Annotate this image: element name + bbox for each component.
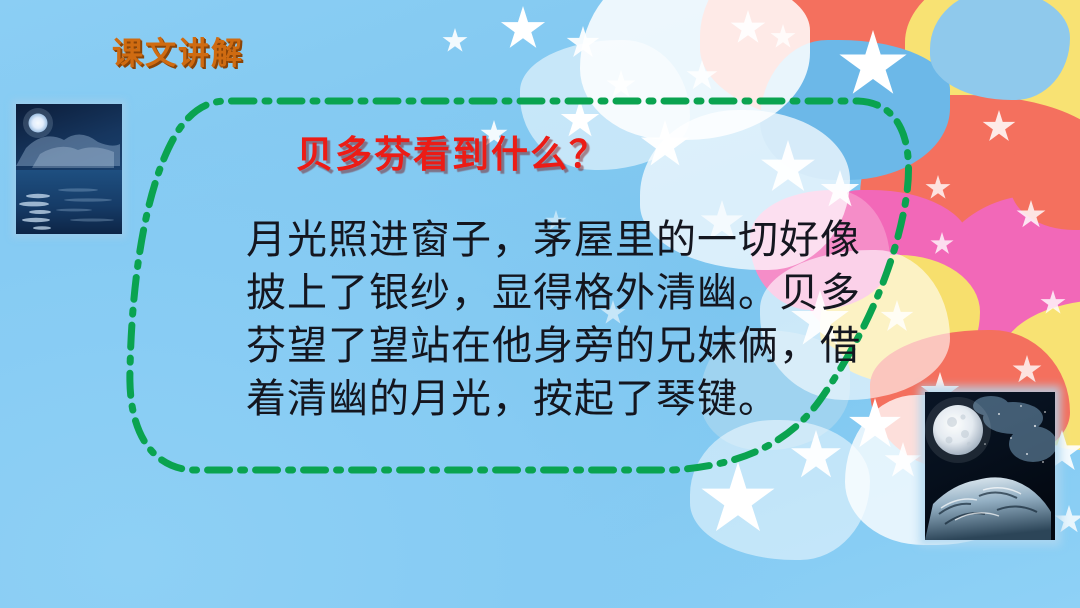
body-line: 披上了银纱，显得格外清幽。贝多	[246, 267, 906, 320]
callout-body-text: 月光照进窗子，茅屋里的一切好像 披上了银纱，显得格外清幽。贝多 芬望了望站在他身…	[246, 214, 906, 426]
body-line: 芬望了望站在他身旁的兄妹俩，借	[246, 320, 906, 373]
slide-canvas: 课文讲解 贝多芬看到什么？ 月光照进窗子，茅屋里的一切好像 披上了银纱，显得格外…	[0, 0, 1080, 608]
moonlit-sea-photo	[16, 104, 122, 234]
section-title: 课文讲解	[112, 28, 244, 73]
callout-headline: 贝多芬看到什么？	[296, 124, 608, 178]
body-line: 月光照进窗子，茅屋里的一切好像	[246, 214, 906, 267]
body-line: 着清幽的月光，按起了琴键。	[246, 373, 906, 426]
full-moon-over-waves-photo	[925, 392, 1055, 540]
